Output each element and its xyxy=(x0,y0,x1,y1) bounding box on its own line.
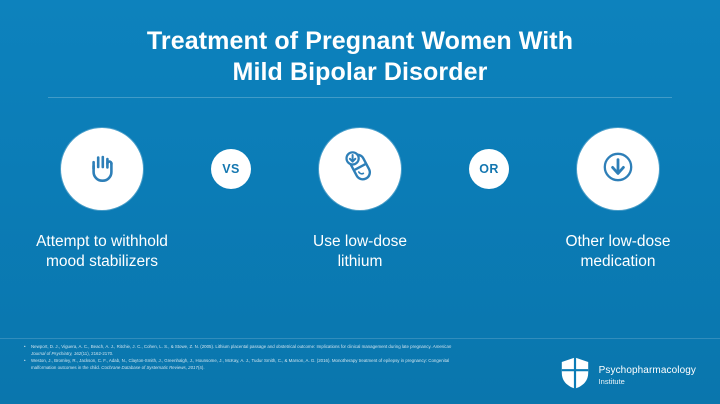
or-badge: OR xyxy=(469,149,509,189)
footer-divider xyxy=(0,338,720,339)
brand-logo-text: Psychopharmacology Institute xyxy=(599,365,696,387)
title-line-1: Treatment of Pregnant Women With xyxy=(0,26,720,57)
brand-name: Psychopharmacology xyxy=(599,365,696,377)
option-3-icon-circle xyxy=(577,128,659,210)
option-1-caption: Attempt to withhold mood stabilizers xyxy=(36,232,168,272)
slide-root: Treatment of Pregnant Women With Mild Bi… xyxy=(0,0,720,404)
connector-or: OR xyxy=(458,128,520,189)
reference-item: Weston, J., Bromley, R., Jackson, C. F.,… xyxy=(24,358,454,371)
reference-1-text-after: (11), 2162-2170. xyxy=(81,351,113,356)
option-1-caption-line-2: mood stabilizers xyxy=(36,252,168,272)
options-row: Attempt to withhold mood stabilizers VS xyxy=(0,128,720,303)
option-2-caption-line-2: lithium xyxy=(313,252,407,272)
capsule-low-dose-icon xyxy=(339,146,381,193)
option-3-caption: Other low-dose medication xyxy=(565,232,670,272)
option-1-caption-line-1: Attempt to withhold xyxy=(36,232,168,252)
brand-sub: Institute xyxy=(599,377,696,387)
option-2-icon-circle xyxy=(319,128,401,210)
vs-badge: VS xyxy=(211,149,251,189)
option-other-low-dose-medication: Other low-dose medication xyxy=(520,128,716,272)
option-withhold-mood-stabilizers: Attempt to withhold mood stabilizers xyxy=(4,128,200,272)
references-list: Newport, D. J., Viguera, A. C., Beach, A… xyxy=(24,344,454,372)
option-low-dose-lithium: Use low-dose lithium xyxy=(262,128,458,272)
brand-logo: Psychopharmacology Institute xyxy=(560,356,696,395)
option-1-icon-circle xyxy=(61,128,143,210)
title-divider xyxy=(48,97,672,98)
title-line-2: Mild Bipolar Disorder xyxy=(0,57,720,88)
reference-item: Newport, D. J., Viguera, A. C., Beach, A… xyxy=(24,344,454,357)
option-2-caption: Use low-dose lithium xyxy=(313,232,407,272)
reference-2-text-after: (4). xyxy=(198,365,205,370)
reference-1-text-before: Newport, D. J., Viguera, A. C., Beach, A… xyxy=(31,344,433,349)
reference-2-italic: Cochrane Database of Systematic Reviews,… xyxy=(101,365,198,370)
option-3-caption-line-2: medication xyxy=(565,252,670,272)
reference-2-text-before: Weston, J., Bromley, R., Jackson, C. F.,… xyxy=(31,358,449,370)
arrow-down-circle-icon xyxy=(598,147,638,192)
option-2-caption-line-1: Use low-dose xyxy=(313,232,407,252)
shield-logo-icon xyxy=(560,356,590,395)
page-title: Treatment of Pregnant Women With Mild Bi… xyxy=(0,26,720,88)
option-3-caption-line-1: Other low-dose xyxy=(565,232,670,252)
connector-vs: VS xyxy=(200,128,262,189)
hand-stop-icon xyxy=(82,147,122,192)
